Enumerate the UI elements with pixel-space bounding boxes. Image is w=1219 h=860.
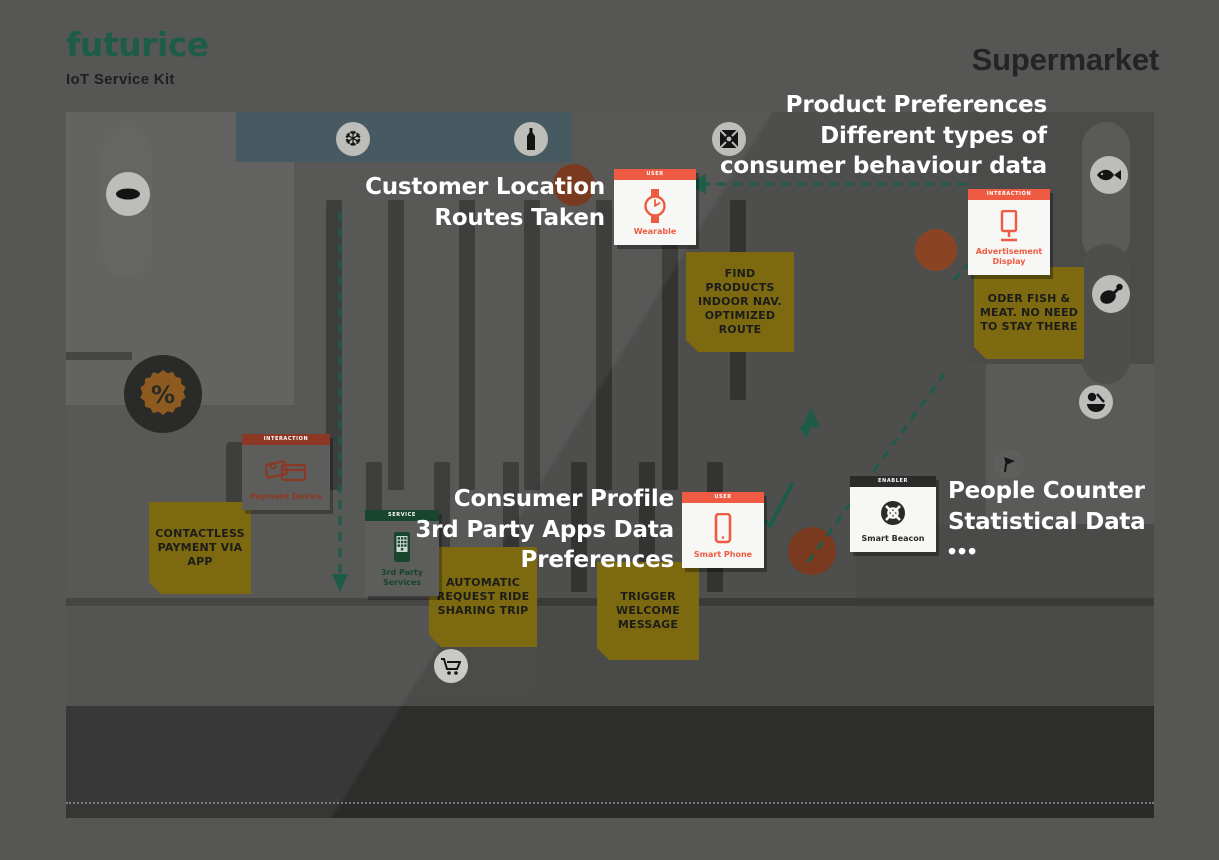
annotation-people-counter-ellipsis: ••• xyxy=(948,538,978,565)
shelf-aisle-5 xyxy=(596,200,612,490)
card-name: Smart Beacon xyxy=(854,534,932,544)
store-map: % ❆ xyxy=(66,112,1154,818)
card-name: Smart Phone xyxy=(686,550,760,560)
person-marker-2 xyxy=(915,229,957,271)
annotation-consumer-profile: Consumer Profile 3rd Party Apps Data Pre… xyxy=(330,484,674,576)
card-name: Advertisement Display xyxy=(972,247,1046,267)
shopping-cart-icon xyxy=(434,649,468,683)
shelf-aisle-2 xyxy=(388,200,404,490)
deli-icon xyxy=(1079,385,1113,419)
snowflake-icon: ❆ xyxy=(336,122,370,156)
meat-counter xyxy=(1082,244,1130,384)
bread-icon xyxy=(106,172,150,216)
note-find-products: FIND PRODUCTS INDOOR NAV. OPTIMIZED ROUT… xyxy=(686,252,794,352)
meat-icon xyxy=(1092,275,1130,313)
card-name: Wearable xyxy=(618,227,692,237)
card-smart-phone[interactable]: USER Smart Phone xyxy=(682,492,764,568)
shelf-aisle-4 xyxy=(524,200,540,490)
map-pin-icon xyxy=(994,449,1024,479)
futurice-logo: futurice IoT Service Kit xyxy=(66,28,209,88)
note-contactless-payment: CONTACTLESS PAYMENT VIA APP xyxy=(149,502,251,594)
smartphone-icon xyxy=(686,512,760,546)
person-marker-3 xyxy=(788,527,836,575)
entrance-band xyxy=(66,706,1154,802)
card-advertisement-display[interactable]: INTERACTION Advertisement Display xyxy=(968,189,1050,275)
card-category-label: USER xyxy=(682,492,764,503)
note-trigger-welcome: TRIGGER WELCOME MESSAGE xyxy=(597,562,699,660)
display-icon xyxy=(972,209,1046,243)
logo-subtitle: IoT Service Kit xyxy=(66,71,209,88)
annotation-product-preferences: Product Preferences Different types of c… xyxy=(487,90,1047,182)
discount-icon: % xyxy=(124,355,202,433)
shelf-aisle-3 xyxy=(459,200,475,490)
page-title: Supermarket xyxy=(972,42,1159,78)
card-smart-beacon[interactable]: ENABLER Smart Beacon xyxy=(850,476,936,552)
watch-icon xyxy=(618,189,692,223)
card-category-label: INTERACTION xyxy=(968,189,1050,200)
entrance-door-strip xyxy=(66,802,1154,818)
annotation-customer-location: Customer Location Routes Taken xyxy=(300,172,605,233)
card-payment-device[interactable]: INTERACTION Payment Device xyxy=(242,434,330,510)
note-order-fish-meat: ODER FISH & MEAT. NO NEED TO STAY THERE xyxy=(974,267,1084,359)
card-category-label: ENABLER xyxy=(850,476,936,487)
card-category-label: INTERACTION xyxy=(242,434,330,445)
beacon-icon xyxy=(854,496,932,530)
poster-root: futurice IoT Service Kit Supermarket xyxy=(0,0,1219,860)
payment-card-icon xyxy=(246,454,326,488)
fish-icon xyxy=(1090,156,1128,194)
svg-text:%: % xyxy=(151,381,175,409)
annotation-people-counter: People Counter Statistical Data xyxy=(948,476,1198,537)
logo-wordmark: futurice xyxy=(66,28,209,61)
floor-divider-2 xyxy=(66,352,132,360)
card-name: Payment Device xyxy=(246,492,326,502)
